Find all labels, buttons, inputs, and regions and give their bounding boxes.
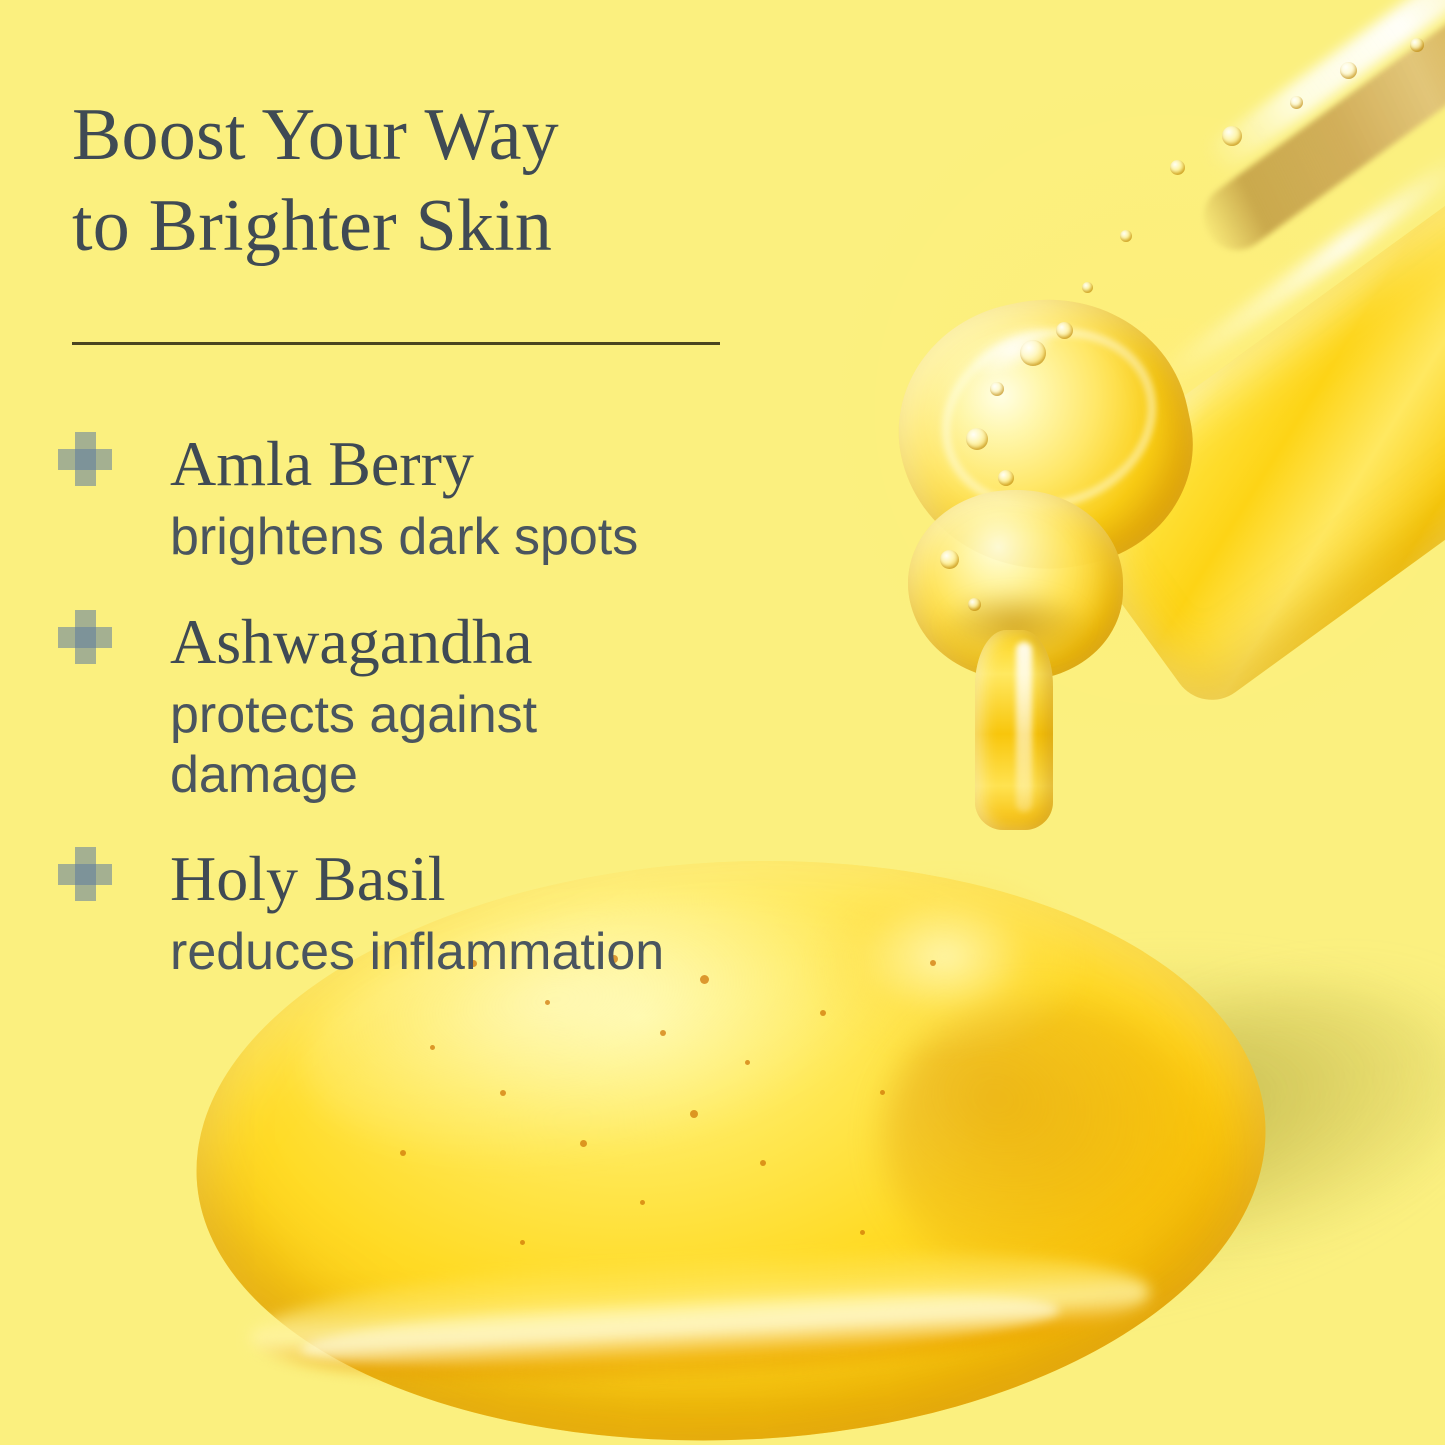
plus-icon xyxy=(58,847,112,901)
benefit-title: Amla Berry xyxy=(58,432,918,496)
plus-icon-vertical-bar xyxy=(75,847,96,901)
headline-line-2: to Brighter Skin xyxy=(72,181,772,272)
copy-layer: Boost Your Way to Brighter Skin Amla Ber… xyxy=(0,0,1445,1445)
headline-line-1: Boost Your Way xyxy=(72,90,772,181)
benefit-subtitle: protects against damage xyxy=(58,686,640,806)
plus-icon-vertical-bar xyxy=(75,610,96,664)
benefit-title: Ashwagandha xyxy=(58,610,918,674)
benefit-subtitle: brightens dark spots xyxy=(58,508,918,568)
benefit-list: Amla Berry brightens dark spots Ashwagan… xyxy=(58,432,918,1025)
product-marketing-image: Boost Your Way to Brighter Skin Amla Ber… xyxy=(0,0,1445,1445)
plus-icon xyxy=(58,432,112,486)
list-item: Holy Basil reduces inflammation xyxy=(58,847,918,983)
plus-icon-vertical-bar xyxy=(75,432,96,486)
benefit-subtitle: reduces inflammation xyxy=(58,923,918,983)
list-item: Amla Berry brightens dark spots xyxy=(58,432,918,568)
page-title: Boost Your Way to Brighter Skin xyxy=(72,90,772,272)
benefit-title: Holy Basil xyxy=(58,847,918,911)
divider xyxy=(72,342,720,345)
plus-icon xyxy=(58,610,112,664)
list-item: Ashwagandha protects against damage xyxy=(58,610,918,806)
